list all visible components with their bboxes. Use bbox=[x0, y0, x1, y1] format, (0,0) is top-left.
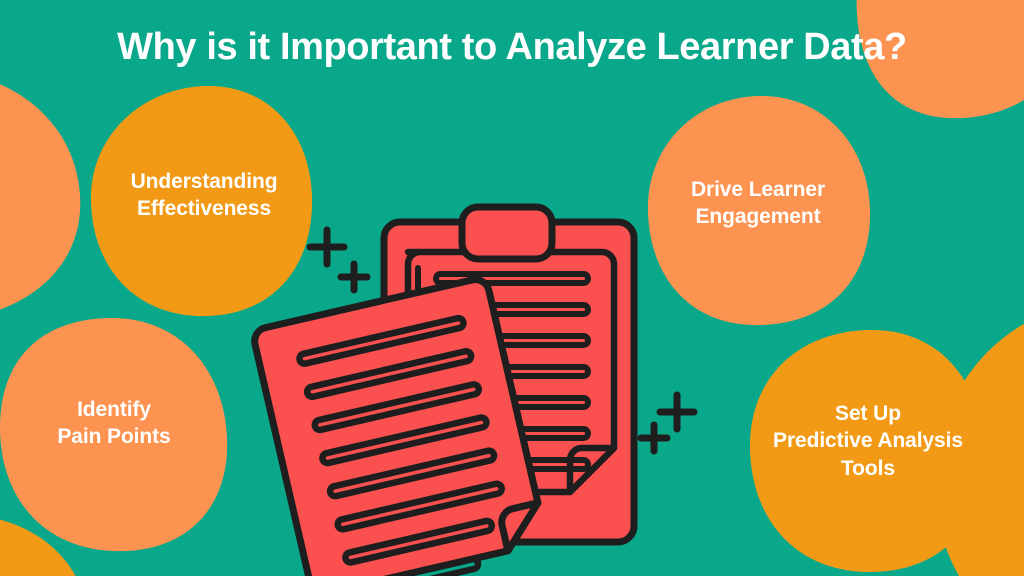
bubble-label-set-up-predictive-analysis-tools: Set Up Predictive Analysis Tools bbox=[738, 400, 998, 482]
bubble-label-identify-pain-points: Identify Pain Points bbox=[6, 396, 222, 451]
page-title: Why is it Important to Analyze Learner D… bbox=[0, 26, 1024, 70]
infographic-canvas: Why is it Important to Analyze Learner D… bbox=[0, 0, 1024, 576]
bubble-label-drive-learner-engagement: Drive Learner Engagement bbox=[648, 176, 868, 231]
background-layer bbox=[0, 0, 1024, 576]
bubble-label-understanding-effectiveness: Understanding Effectiveness bbox=[88, 168, 320, 223]
